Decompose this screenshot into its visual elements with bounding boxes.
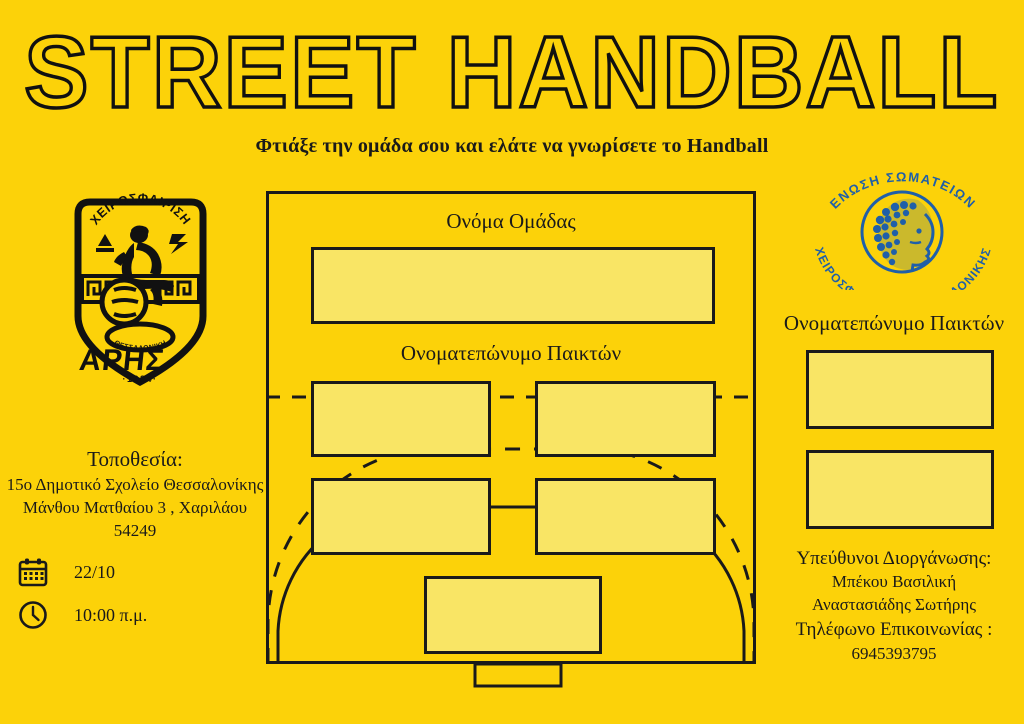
player-field-7[interactable] xyxy=(806,450,994,529)
svg-text:ΑΡΗΣ: ΑΡΗΣ xyxy=(78,344,167,377)
location-title: Τοποθεσία: xyxy=(0,448,270,471)
player-field-3[interactable] xyxy=(311,478,491,555)
player-field-5[interactable] xyxy=(424,576,602,654)
organizer-name-1: Μπέκου Βασιλική xyxy=(764,570,1024,593)
organizer-name-2: Αναστασιάδης Σωτήρης xyxy=(764,593,1024,616)
clock-icon xyxy=(18,600,48,630)
player-field-6[interactable] xyxy=(806,350,994,429)
aris-crest-logo: ΧΕΙΡΟΣΦΑΙΡΙΣΗ xyxy=(68,190,213,390)
page-subtitle: Φτιάξε την ομάδα σου και ελάτε να γνωρίσ… xyxy=(0,135,1024,158)
handball-union-logo: ΕΝΩΣΗ ΣΩΜΑΤΕΙΩΝ ΧΕΙΡΟΣΦΑΙΡΙΣΗΣ ΘΕΣΣΑΛΟΝΙ… xyxy=(800,170,1005,290)
street-handball-poster: STREET HANDBALL Φτιάξε την ομάδα σου και… xyxy=(0,0,1024,724)
organizers-block: Υπεύθυνοι Διοργάνωσης: Μπέκου Βασιλική Α… xyxy=(764,547,1024,616)
event-date: 22/10 xyxy=(74,562,115,583)
svg-text:ΧΕΙΡΟΣΦΑΙΡΙΣΗ: ΧΕΙΡΟΣΦΑΙΡΙΣΗ xyxy=(87,191,193,228)
event-time-row: 10:00 π.μ. xyxy=(18,600,147,630)
player-field-2[interactable] xyxy=(535,381,716,457)
player-field-1[interactable] xyxy=(311,381,491,457)
event-date-row: 22/10 xyxy=(18,557,115,587)
calendar-icon xyxy=(18,557,48,587)
location-block: Τοποθεσία: 15ο Δημοτικό Σχολείο Θεσσαλον… xyxy=(0,448,270,542)
contact-title: Τηλέφωνο Επικοινωνίας : xyxy=(764,618,1024,642)
player-field-4[interactable] xyxy=(535,478,716,555)
contact-phone: 6945393795 xyxy=(764,642,1024,666)
organizers-title: Υπεύθυνοι Διοργάνωσης: xyxy=(764,547,1024,570)
location-postcode: 54249 xyxy=(0,519,270,542)
svg-text:·1984·: ·1984· xyxy=(122,374,157,384)
team-name-field[interactable] xyxy=(311,247,715,324)
location-line-2: Μάνθου Ματθαίου 3 , Χαριλάου xyxy=(0,496,270,519)
location-line-1: 15ο Δημοτικό Σχολείο Θεσσαλονίκης xyxy=(0,473,270,496)
event-time: 10:00 π.μ. xyxy=(74,605,147,626)
players-heading-center: Ονοματεπώνυμο Παικτών xyxy=(266,341,756,366)
page-title: STREET HANDBALL xyxy=(0,16,1024,129)
contact-block: Τηλέφωνο Επικοινωνίας : 6945393795 xyxy=(764,618,1024,666)
team-name-heading: Ονόμα Ομάδας xyxy=(266,209,756,234)
players-heading-right: Ονοματεπώνυμο Παικτών xyxy=(764,311,1024,336)
